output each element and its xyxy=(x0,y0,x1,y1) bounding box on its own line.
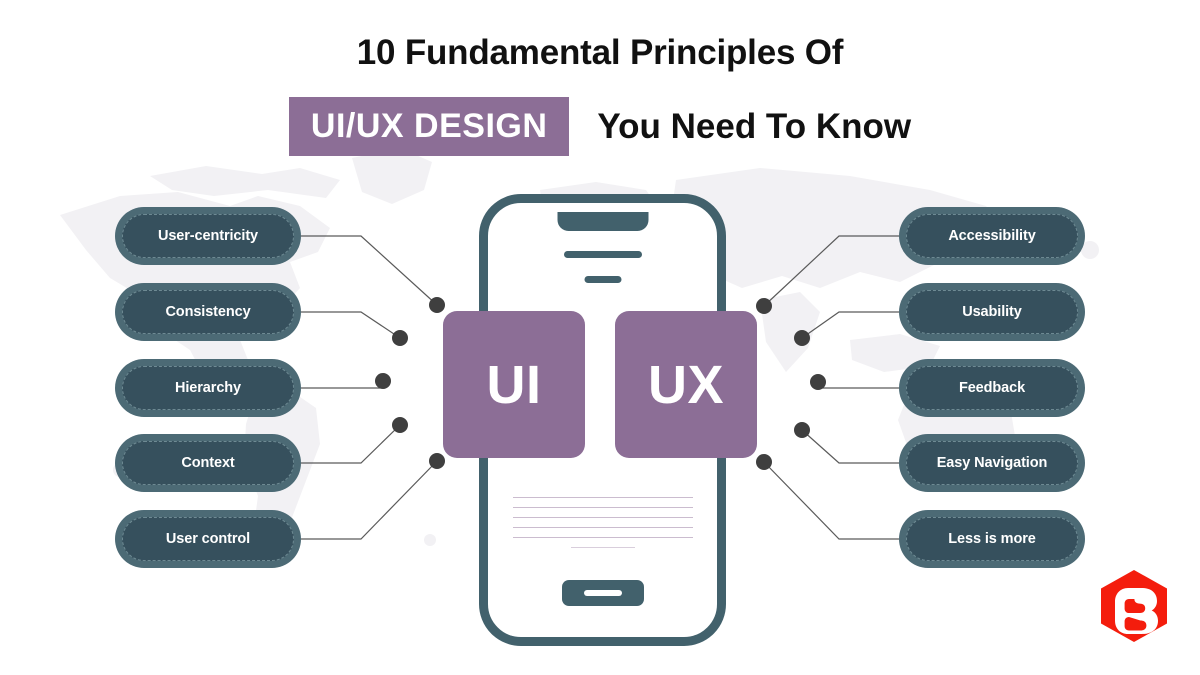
uiux-design-badge: UI/UX DESIGN xyxy=(289,97,569,156)
principle-pill-context[interactable]: Context xyxy=(115,434,301,492)
pill-label: Easy Navigation xyxy=(937,455,1048,471)
pill-inner: Context xyxy=(122,441,294,485)
pill-inner: Easy Navigation xyxy=(906,441,1078,485)
principle-pill-usability[interactable]: Usability xyxy=(899,283,1085,341)
ux-card-label: UX xyxy=(648,358,724,412)
ux-card[interactable]: UX xyxy=(615,311,757,458)
ui-card[interactable]: UI xyxy=(443,311,585,458)
pill-label: Feedback xyxy=(959,380,1025,396)
page-title-line-2: You Need To Know xyxy=(597,107,911,147)
hexagon-b-logo-icon[interactable] xyxy=(1098,568,1170,644)
pill-inner: Less is more xyxy=(906,517,1078,561)
pill-label: Context xyxy=(181,455,234,471)
principle-pill-user-centricity[interactable]: User-centricity xyxy=(115,207,301,265)
pill-inner: User control xyxy=(122,517,294,561)
pill-inner: Usability xyxy=(906,290,1078,334)
pill-label: User control xyxy=(166,531,250,547)
title-row-2: UI/UX DESIGN You Need To Know xyxy=(0,97,1200,156)
principle-pill-accessibility[interactable]: Accessibility xyxy=(899,207,1085,265)
pill-label: Less is more xyxy=(948,531,1035,547)
principle-pill-consistency[interactable]: Consistency xyxy=(115,283,301,341)
ui-card-label: UI xyxy=(487,358,542,412)
principle-pill-hierarchy[interactable]: Hierarchy xyxy=(115,359,301,417)
pill-label: Usability xyxy=(962,304,1022,320)
principle-pill-easy-navigation[interactable]: Easy Navigation xyxy=(899,434,1085,492)
pill-label: Hierarchy xyxy=(175,380,241,396)
pill-label: Accessibility xyxy=(948,228,1035,244)
principle-pill-less-is-more[interactable]: Less is more xyxy=(899,510,1085,568)
pill-inner: Feedback xyxy=(906,366,1078,410)
pill-inner: Consistency xyxy=(122,290,294,334)
principle-pill-feedback[interactable]: Feedback xyxy=(899,359,1085,417)
principle-pill-user-control[interactable]: User control xyxy=(115,510,301,568)
pill-inner: Accessibility xyxy=(906,214,1078,258)
pill-label: User-centricity xyxy=(158,228,258,244)
pill-inner: User-centricity xyxy=(122,214,294,258)
infographic-canvas: 10 Fundamental Principles Of UI/UX DESIG… xyxy=(0,0,1200,675)
pill-label: Consistency xyxy=(165,304,250,320)
pill-inner: Hierarchy xyxy=(122,366,294,410)
page-title-line-1: 10 Fundamental Principles Of xyxy=(0,33,1200,73)
